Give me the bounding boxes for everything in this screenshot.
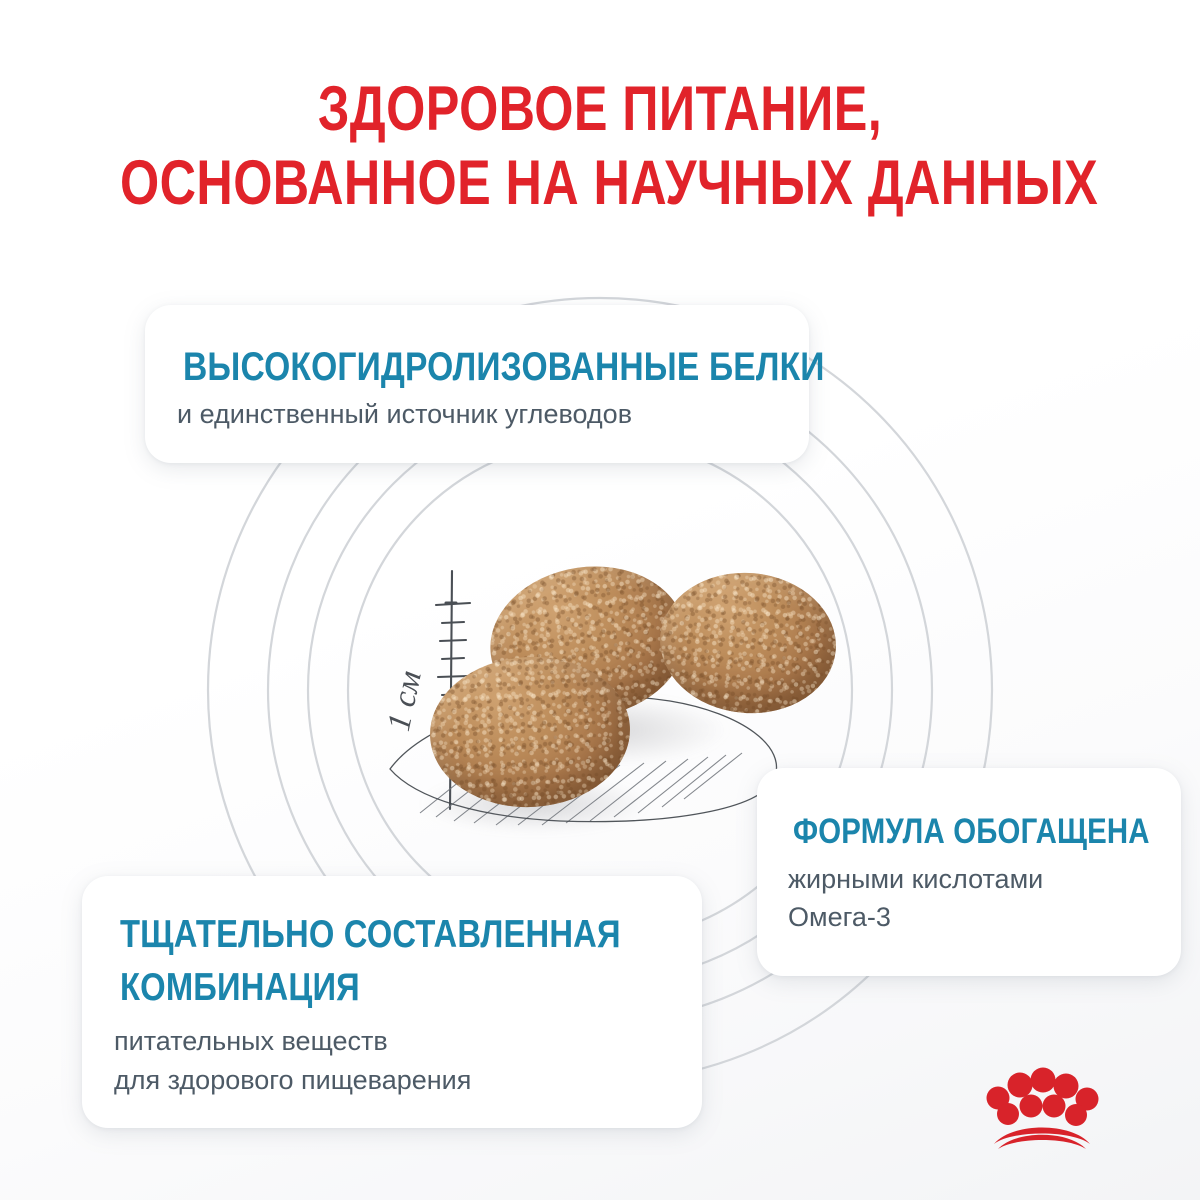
feature-card-omega: ФОРМУЛА ОБОГАЩЕНА жирными кислотами Омег… (757, 768, 1181, 976)
royal-canin-crown-logo (982, 1058, 1102, 1150)
feature-card-protein: ВЫСОКОГИДРОЛИЗОВАННЫЕ БЕЛКИ и единственн… (145, 305, 809, 463)
page-title: ЗДОРОВОЕ ПИТАНИЕ, ОСНОВАННОЕ НА НАУЧНЫХ … (0, 72, 1200, 220)
crown-icon (982, 1058, 1102, 1150)
feature-card-combination-subtext-line-1: питательных веществ (114, 1022, 702, 1061)
feature-card-omega-subtext-line-2: Омега-3 (788, 898, 1181, 936)
feature-card-omega-subtext-line-1: жирными кислотами (788, 860, 1181, 898)
feature-card-protein-subtext: и единственный источник углеводов (177, 397, 809, 431)
feature-card-combination-heading-line-1: ТЩАТЕЛЬНО СОСТАВЛЕННАЯ (120, 908, 609, 961)
feature-card-combination-subtext-line-2: для здорового пищеварения (114, 1061, 702, 1100)
feature-card-protein-heading: ВЫСОКОГИДРОЛИЗОВАННЫЕ БЕЛКИ (183, 345, 709, 389)
feature-card-combination-heading-line-2: КОМБИНАЦИЯ (120, 961, 609, 1014)
feature-card-omega-heading: ФОРМУЛА ОБОГАЩЕНА (793, 812, 1119, 852)
feature-card-combination: ТЩАТЕЛЬНО СОСТАВЛЕННАЯ КОМБИНАЦИЯ питате… (82, 876, 702, 1128)
page-title-line-1: ЗДОРОВОЕ ПИТАНИЕ, (120, 72, 1080, 146)
page-title-line-2: ОСНОВАННОЕ НА НАУЧНЫХ ДАННЫХ (120, 146, 1080, 220)
